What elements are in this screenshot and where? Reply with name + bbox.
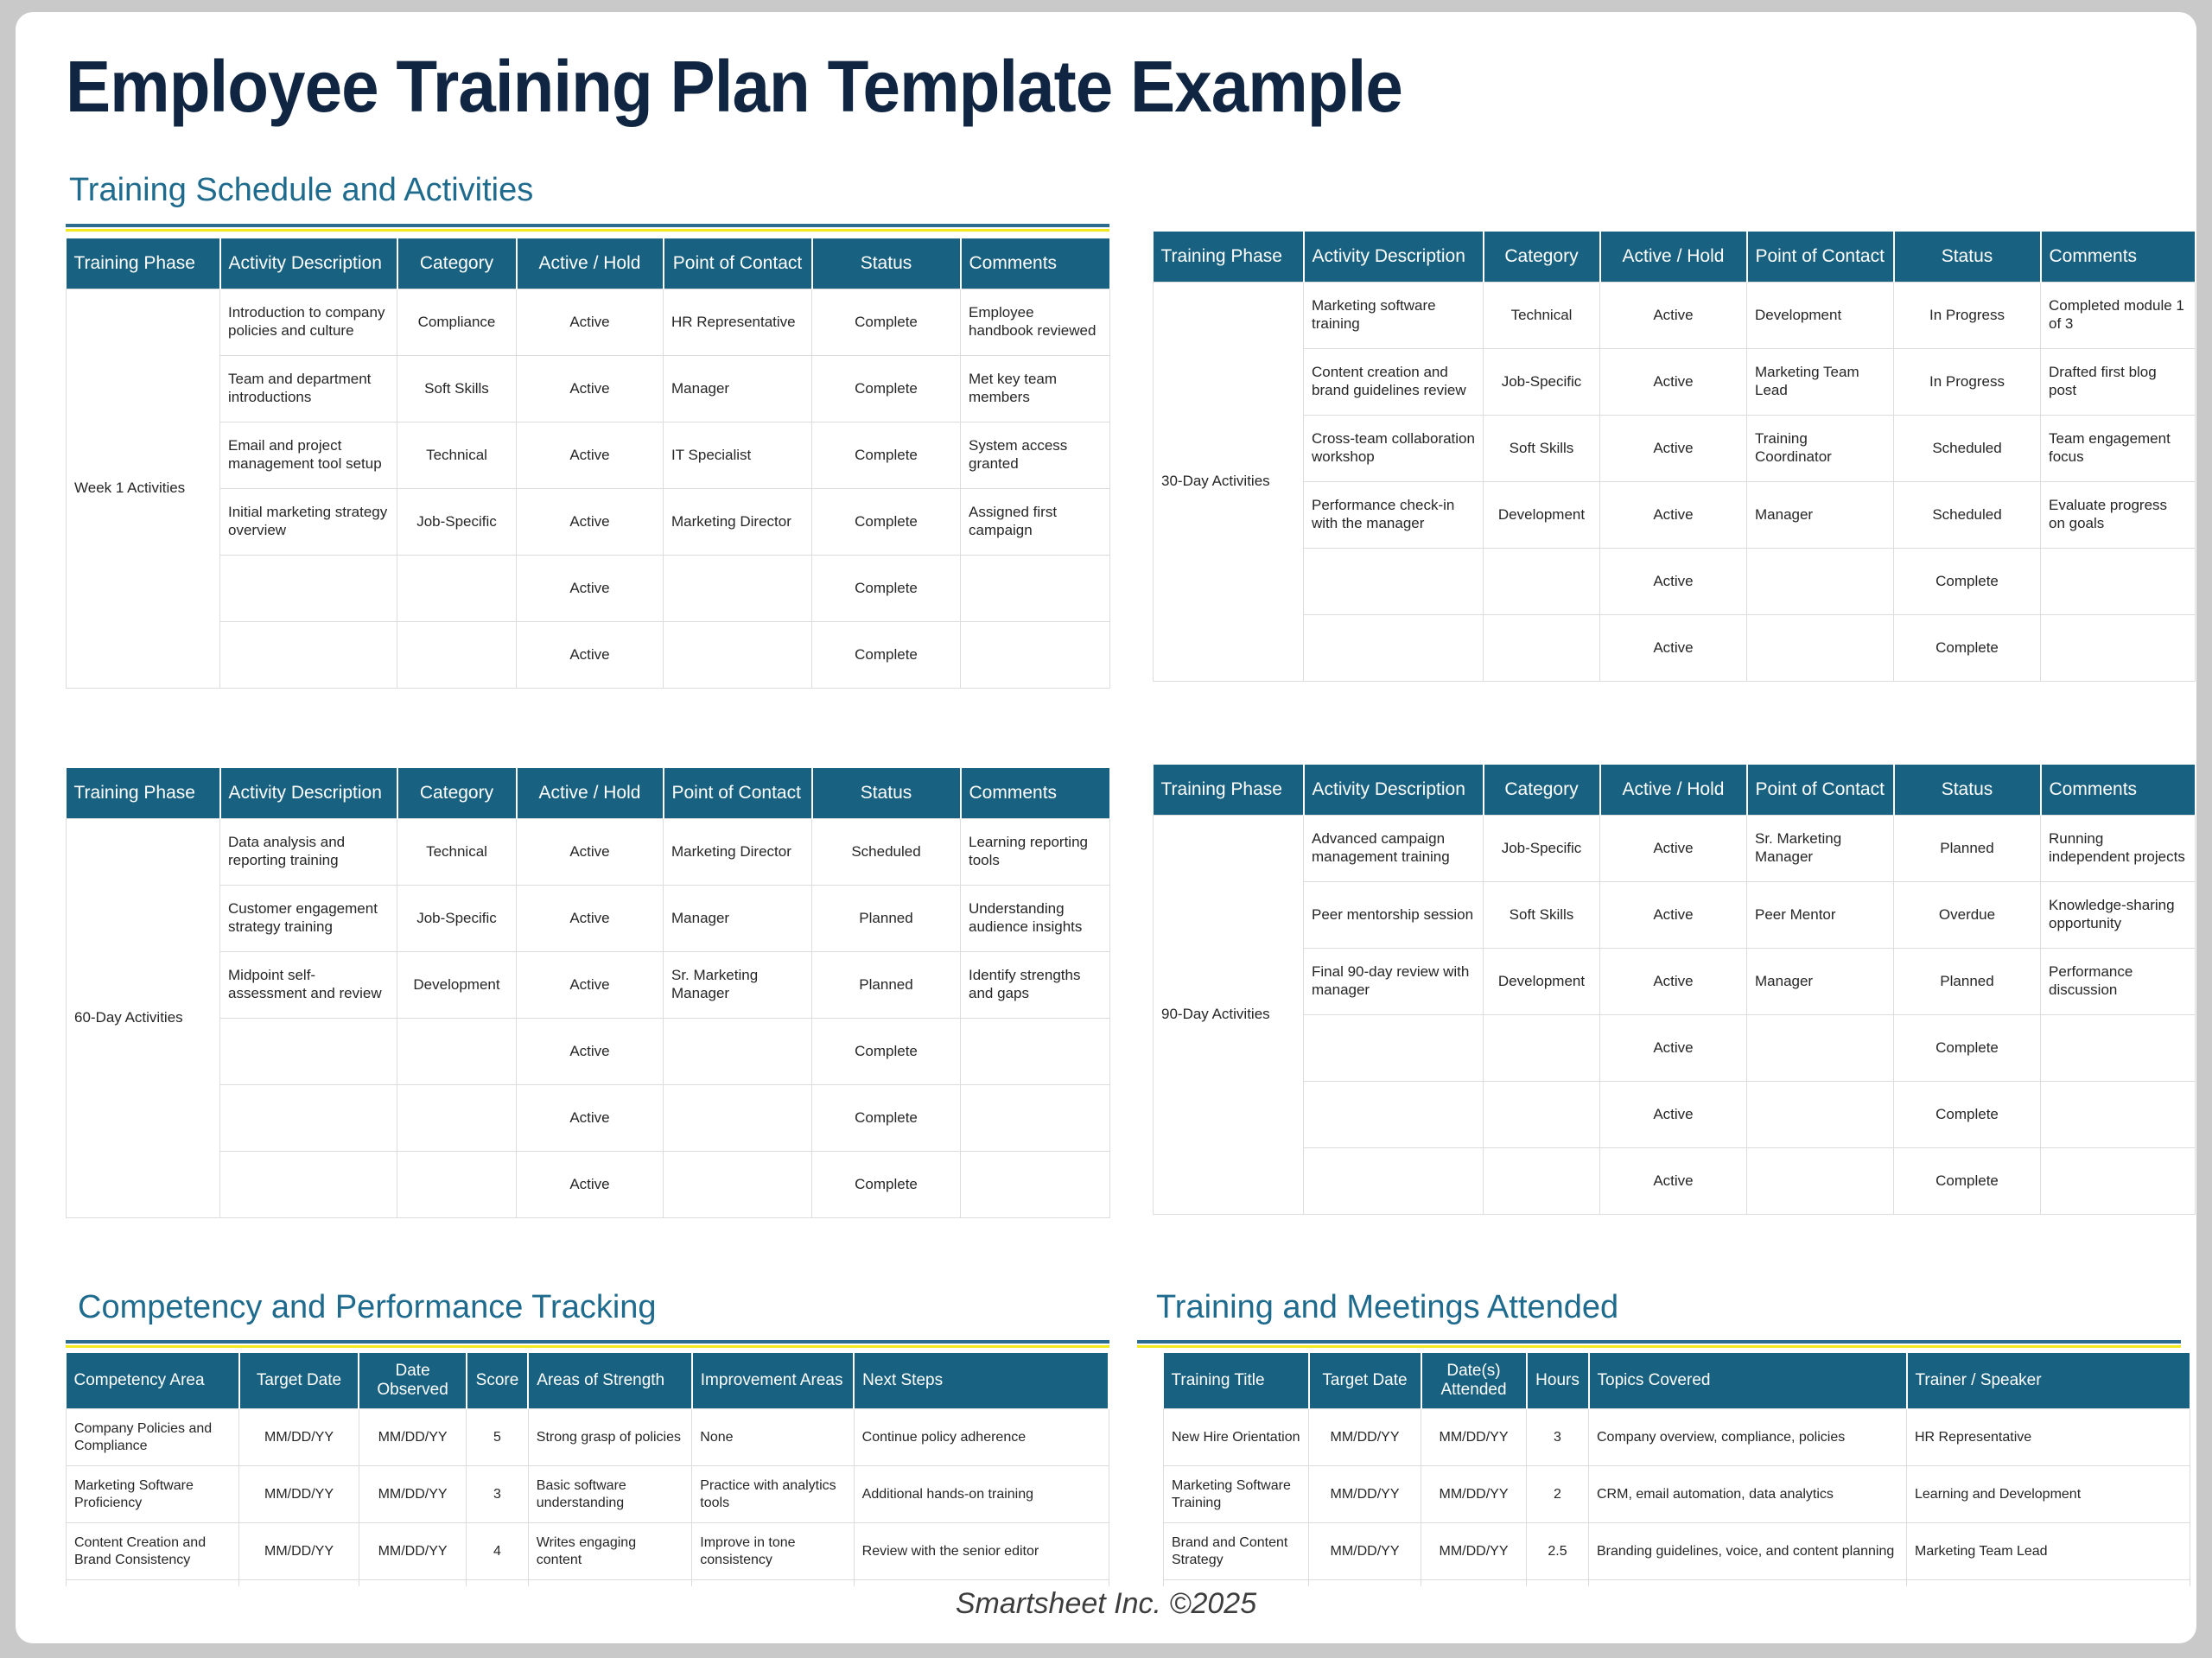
col-topics-covered: Topics Covered [1589,1353,1907,1409]
category-cell: Development [397,952,517,1019]
col-category: Category [1484,765,1600,816]
col-status: Status [1894,765,2041,816]
col-training-phase: Training Phase [67,768,220,819]
category-cell: Job-Specific [397,886,517,952]
table-row: Peer mentorship sessionSoft SkillsActive… [1154,882,2196,949]
col-training-phase: Training Phase [1154,232,1304,283]
training-title-cell: New Hire Orientation [1164,1409,1309,1466]
page-title: Employee Training Plan Template Example [66,45,1402,129]
table-row: ActiveComplete [67,1085,1110,1152]
table-row: ActiveComplete [1154,549,2196,615]
date-observed-cell: MM/DD/YY [359,1580,466,1587]
category-cell: Technical [1484,283,1600,349]
areas-of-strength-cell: Engages well in meetings [528,1580,692,1587]
point-of-contact-cell [664,622,812,689]
point-of-contact-cell [1747,1082,1894,1148]
point-of-contact-cell [664,556,812,622]
activity-description-cell [220,622,397,689]
col-training-title: Training Title [1164,1353,1309,1409]
category-cell: Soft Skills [397,356,517,422]
col-training-phase: Training Phase [1154,765,1304,816]
col-activity-description: Activity Description [220,238,397,289]
category-cell: Job-Specific [397,489,517,556]
score-cell: 3 [467,1466,529,1523]
table-row: Cross-Team Collaboration WorkshopMM/DD/Y… [1164,1580,2190,1587]
training-title-cell: Cross-Team Collaboration Workshop [1164,1580,1309,1587]
table-row: Final 90-day review with managerDevelopm… [1154,949,2196,1015]
competency-table-body: Company Policies and ComplianceMM/DD/YYM… [67,1409,1109,1587]
table-row: ActiveComplete [1154,1015,2196,1082]
col-active-hold: Active / Hold [1600,765,1747,816]
areas-of-strength-cell: Basic software understanding [528,1466,692,1523]
day60-table-wrap: Training Phase Activity Description Cate… [66,768,1111,1267]
active-hold-cell: Active [1600,549,1747,615]
comments-cell: Drafted first blog post [2041,349,2196,416]
status-cell: Planned [812,952,961,1019]
day60-table-body: 60-Day ActivitiesData analysis and repor… [67,819,1110,1218]
comments-cell: System access granted [961,422,1110,489]
status-cell: Complete [1894,1082,2041,1148]
category-cell [397,1152,517,1218]
active-hold-cell: Active [517,1085,664,1152]
comments-cell: Learning reporting tools [961,819,1110,886]
activity-description-cell [1304,1015,1484,1082]
trainer-speaker-cell: Marketing Team Lead [1907,1523,2190,1580]
active-hold-cell: Active [517,556,664,622]
table-row: ActiveComplete [67,1152,1110,1218]
hours-cell: 3 [1527,1409,1589,1466]
category-cell: Development [1484,482,1600,549]
point-of-contact-cell: Manager [1747,482,1894,549]
active-hold-cell: Active [517,622,664,689]
comments-cell [2041,549,2196,615]
meetings-table-wrap: Training Title Target Date Date(s) Atten… [1163,1353,2191,1586]
areas-of-strength-cell: Writes engaging content [528,1523,692,1580]
next-steps-cell: Set reminders for follow-ups [854,1580,1109,1587]
table-header-row: Competency Area Target Date Date Observe… [67,1353,1109,1409]
activity-description-cell: Customer engagement strategy training [220,886,397,952]
competency-tracking-table: Competency Area Target Date Date Observe… [66,1353,1109,1586]
status-cell: Complete [1894,615,2041,682]
point-of-contact-cell [1747,1148,1894,1215]
category-cell [1484,549,1600,615]
table-row: ActiveComplete [1154,615,2196,682]
status-cell: Complete [812,289,961,356]
comments-cell [2041,1148,2196,1215]
hours-cell: 2.5 [1527,1523,1589,1580]
category-cell: Soft Skills [1484,416,1600,482]
status-cell: In Progress [1894,283,2041,349]
table-row: ActiveComplete [67,622,1110,689]
week1-table-wrap: Training Phase Activity Description Cate… [66,238,1111,745]
active-hold-cell: Active [1600,615,1747,682]
table-row: ActiveComplete [67,1019,1110,1085]
active-hold-cell: Active [1600,283,1747,349]
comments-cell: Identify strengths and gaps [961,952,1110,1019]
activity-description-cell [220,556,397,622]
activity-description-cell: Initial marketing strategy overview [220,489,397,556]
col-active-hold: Active / Hold [1600,232,1747,283]
category-cell: Technical [397,422,517,489]
next-steps-cell: Review with the senior editor [854,1523,1109,1580]
table-row: 90-Day ActivitiesAdvanced campaign manag… [1154,816,2196,882]
col-point-of-contact: Point of Contact [1747,232,1894,283]
col-date-observed: Date Observed [359,1353,466,1409]
week1-activities-table: Training Phase Activity Description Cate… [66,238,1111,689]
category-cell: Job-Specific [1484,816,1600,882]
table-row: Marketing Software ProficiencyMM/DD/YYMM… [67,1466,1109,1523]
table-row: Marketing Software TrainingMM/DD/YYMM/DD… [1164,1466,2190,1523]
comments-cell [961,1019,1110,1085]
status-cell: Scheduled [1894,482,2041,549]
training-title-cell: Brand and Content Strategy [1164,1523,1309,1580]
comments-cell: Running independent projects [2041,816,2196,882]
status-cell: Complete [812,622,961,689]
table-row: Brand and Content StrategyMM/DD/YYMM/DD/… [1164,1523,2190,1580]
point-of-contact-cell [1747,549,1894,615]
activity-description-cell: Marketing software training [1304,283,1484,349]
section-heading-competency: Competency and Performance Tracking [78,1289,657,1326]
dates-attended-cell: MM/DD/YY [1421,1580,1527,1587]
activity-description-cell: Peer mentorship session [1304,882,1484,949]
category-cell: Compliance [397,289,517,356]
topics-covered-cell: Team synergy, role alignment [1589,1580,1907,1587]
table-row: Content creation and brand guidelines re… [1154,349,2196,416]
category-cell [397,556,517,622]
section-rule-meetings [1137,1340,2181,1348]
improvement-areas-cell: Practice with analytics tools [692,1466,854,1523]
status-cell: Complete [1894,1148,2041,1215]
activity-description-cell [220,1152,397,1218]
status-cell: Overdue [1894,882,2041,949]
target-date-cell: MM/DD/YY [1309,1409,1421,1466]
comments-cell: Knowledge-sharing opportunity [2041,882,2196,949]
col-category: Category [397,768,517,819]
category-cell [1484,1082,1600,1148]
active-hold-cell: Active [1600,482,1747,549]
col-areas-of-strength: Areas of Strength [528,1353,692,1409]
point-of-contact-cell [664,1152,812,1218]
comments-cell [961,556,1110,622]
table-row: Company Policies and ComplianceMM/DD/YYM… [67,1409,1109,1466]
col-comments: Comments [2041,765,2196,816]
dates-attended-cell: MM/DD/YY [1421,1523,1527,1580]
activity-description-cell [220,1019,397,1085]
col-trainer-speaker: Trainer / Speaker [1907,1353,2190,1409]
col-active-hold: Active / Hold [517,238,664,289]
hours-cell: 2 [1527,1466,1589,1523]
active-hold-cell: Active [1600,816,1747,882]
active-hold-cell: Active [517,886,664,952]
col-target-date: Target Date [239,1353,359,1409]
target-date-cell: MM/DD/YY [239,1409,359,1466]
meetings-attended-table: Training Title Target Date Date(s) Atten… [1163,1353,2191,1586]
table-row: ActiveComplete [1154,1082,2196,1148]
category-cell: Technical [397,819,517,886]
target-date-cell: MM/DD/YY [1309,1466,1421,1523]
col-improvement-areas: Improvement Areas [692,1353,854,1409]
activity-description-cell [1304,615,1484,682]
competency-area-cell: Content Creation and Brand Consistency [67,1523,239,1580]
target-date-cell: MM/DD/YY [239,1580,359,1587]
improvement-areas-cell: None [692,1409,854,1466]
active-hold-cell: Active [517,1019,664,1085]
point-of-contact-cell: Manager [664,886,812,952]
status-cell: Planned [1894,816,2041,882]
category-cell [1484,1015,1600,1082]
status-cell: Scheduled [812,819,961,886]
col-active-hold: Active / Hold [517,768,664,819]
col-comments: Comments [961,238,1110,289]
document-page: Employee Training Plan Template Example … [16,12,2196,1643]
trainer-speaker-cell: HR Representative [1907,1409,2190,1466]
activity-description-cell: Midpoint self-assessment and review [220,952,397,1019]
table-header-row: Training Title Target Date Date(s) Atten… [1164,1353,2190,1409]
day90-table-wrap: Training Phase Activity Description Cate… [1153,765,2196,1224]
col-next-steps: Next Steps [854,1353,1109,1409]
col-category: Category [1484,232,1600,283]
comments-cell: Team engagement focus [2041,416,2196,482]
activity-description-cell [1304,1082,1484,1148]
date-observed-cell: MM/DD/YY [359,1523,466,1580]
point-of-contact-cell: Sr. Marketing Manager [1747,816,1894,882]
col-point-of-contact: Point of Contact [664,238,812,289]
category-cell [397,622,517,689]
status-cell: Complete [1894,549,2041,615]
target-date-cell: MM/DD/YY [1309,1580,1421,1587]
table-header-row: Training Phase Activity Description Cate… [1154,765,2196,816]
category-cell [1484,615,1600,682]
category-cell [397,1085,517,1152]
table-row: ActiveComplete [1154,1148,2196,1215]
col-competency-area: Competency Area [67,1353,239,1409]
status-cell: Complete [812,1085,961,1152]
comments-cell [961,1085,1110,1152]
active-hold-cell: Active [1600,949,1747,1015]
point-of-contact-cell: Training Coordinator [1747,416,1894,482]
competency-table-wrap: Competency Area Target Date Date Observe… [66,1353,1111,1586]
comments-cell: Performance discussion [2041,949,2196,1015]
training-phase-cell: 60-Day Activities [67,819,220,1218]
col-point-of-contact: Point of Contact [664,768,812,819]
section-heading-meetings: Training and Meetings Attended [1156,1289,1618,1326]
col-category: Category [397,238,517,289]
improvement-areas-cell: Improve in tone consistency [692,1523,854,1580]
col-activity-description: Activity Description [1304,765,1484,816]
topics-covered-cell: Company overview, compliance, policies [1589,1409,1907,1466]
table-row: Customer engagement strategy trainingJob… [67,886,1110,952]
comments-cell: Assigned first campaign [961,489,1110,556]
table-row: 60-Day ActivitiesData analysis and repor… [67,819,1110,886]
status-cell: Complete [812,556,961,622]
table-row: Email and project management tool setupT… [67,422,1110,489]
activity-description-cell: Advanced campaign management training [1304,816,1484,882]
comments-cell: Understanding audience insights [961,886,1110,952]
table-row: Content Creation and Brand ConsistencyMM… [67,1523,1109,1580]
point-of-contact-cell [664,1085,812,1152]
day30-table-body: 30-Day ActivitiesMarketing software trai… [1154,283,2196,682]
comments-cell [961,1152,1110,1218]
training-title-cell: Marketing Software Training [1164,1466,1309,1523]
day60-activities-table: Training Phase Activity Description Cate… [66,768,1111,1218]
trainer-speaker-cell: Learning and Development [1907,1466,2190,1523]
status-cell: Planned [1894,949,2041,1015]
status-cell: Planned [812,886,961,952]
date-observed-cell: MM/DD/YY [359,1409,466,1466]
col-hours: Hours [1527,1353,1589,1409]
active-hold-cell: Active [517,952,664,1019]
week1-table-body: Week 1 ActivitiesIntroduction to company… [67,289,1110,689]
table-row: Week 1 ActivitiesIntroduction to company… [67,289,1110,356]
section-rule-competency [66,1340,1109,1348]
comments-cell: Completed module 1 of 3 [2041,283,2196,349]
active-hold-cell: Active [1600,1082,1747,1148]
status-cell: In Progress [1894,349,2041,416]
improvement-areas-cell: Improve response times [692,1580,854,1587]
comments-cell [2041,1082,2196,1148]
day30-table-wrap: Training Phase Activity Description Cate… [1153,232,2196,694]
point-of-contact-cell [1747,1015,1894,1082]
point-of-contact-cell [1747,615,1894,682]
category-cell [1484,1148,1600,1215]
activity-description-cell [1304,1148,1484,1215]
comments-cell [2041,1015,2196,1082]
score-cell: 5 [467,1409,529,1466]
active-hold-cell: Active [517,819,664,886]
point-of-contact-cell: Manager [1747,949,1894,1015]
active-hold-cell: Active [517,356,664,422]
active-hold-cell: Active [1600,349,1747,416]
table-row: Midpoint self-assessment and reviewDevel… [67,952,1110,1019]
meetings-table-body: New Hire OrientationMM/DD/YYMM/DD/YY3Com… [1164,1409,2190,1587]
hours-cell: 2 [1527,1580,1589,1587]
next-steps-cell: Continue policy adherence [854,1409,1109,1466]
point-of-contact-cell: Marketing Team Lead [1747,349,1894,416]
activity-description-cell: Cross-team collaboration workshop [1304,416,1484,482]
activity-description-cell: Content creation and brand guidelines re… [1304,349,1484,416]
status-cell: Complete [812,489,961,556]
day30-activities-table: Training Phase Activity Description Cate… [1153,232,2196,682]
category-cell [397,1019,517,1085]
target-date-cell: MM/DD/YY [239,1523,359,1580]
competency-area-cell: Company Policies and Compliance [67,1409,239,1466]
active-hold-cell: Active [1600,1015,1747,1082]
col-status: Status [812,768,961,819]
activity-description-cell [220,1085,397,1152]
section-rule-schedule [66,224,1109,232]
active-hold-cell: Active [1600,1148,1747,1215]
comments-cell [2041,615,2196,682]
status-cell: Complete [812,356,961,422]
activity-description-cell: Introduction to company policies and cul… [220,289,397,356]
table-row: Initial marketing strategy overviewJob-S… [67,489,1110,556]
table-header-row: Training Phase Activity Description Cate… [1154,232,2196,283]
status-cell: Complete [1894,1015,2041,1082]
active-hold-cell: Active [1600,882,1747,949]
active-hold-cell: Active [517,422,664,489]
status-cell: Complete [812,1152,961,1218]
col-training-phase: Training Phase [67,238,220,289]
table-header-row: Training Phase Activity Description Cate… [67,768,1110,819]
activity-description-cell: Team and department introductions [220,356,397,422]
col-comments: Comments [961,768,1110,819]
comments-cell: Met key team members [961,356,1110,422]
point-of-contact-cell: Sr. Marketing Manager [664,952,812,1019]
active-hold-cell: Active [517,489,664,556]
date-observed-cell: MM/DD/YY [359,1466,466,1523]
point-of-contact-cell: Marketing Director [664,819,812,886]
col-point-of-contact: Point of Contact [1747,765,1894,816]
activity-description-cell: Email and project management tool setup [220,422,397,489]
point-of-contact-cell: Manager [664,356,812,422]
active-hold-cell: Active [517,289,664,356]
table-header-row: Training Phase Activity Description Cate… [67,238,1110,289]
competency-area-cell: Cross-Team Communication [67,1580,239,1587]
comments-cell: Evaluate progress on goals [2041,482,2196,549]
copyright-footer: Smartsheet Inc. ©2025 [16,1587,2196,1621]
point-of-contact-cell: HR Representative [664,289,812,356]
col-score: Score [467,1353,529,1409]
dates-attended-cell: MM/DD/YY [1421,1466,1527,1523]
status-cell: Complete [812,1019,961,1085]
table-row: 30-Day ActivitiesMarketing software trai… [1154,283,2196,349]
day90-activities-table: Training Phase Activity Description Cate… [1153,765,2196,1215]
areas-of-strength-cell: Strong grasp of policies [528,1409,692,1466]
activity-description-cell: Data analysis and reporting training [220,819,397,886]
point-of-contact-cell: Marketing Director [664,489,812,556]
trainer-speaker-cell: Training Coordinator [1907,1580,2190,1587]
activity-description-cell [1304,549,1484,615]
point-of-contact-cell: Peer Mentor [1747,882,1894,949]
category-cell: Job-Specific [1484,349,1600,416]
point-of-contact-cell: Development [1747,283,1894,349]
training-phase-cell: Week 1 Activities [67,289,220,689]
target-date-cell: MM/DD/YY [1309,1523,1421,1580]
table-row: Cross-team collaboration workshopSoft Sk… [1154,416,2196,482]
col-dates-attended: Date(s) Attended [1421,1353,1527,1409]
topics-covered-cell: Branding guidelines, voice, and content … [1589,1523,1907,1580]
active-hold-cell: Active [517,1152,664,1218]
table-row: Team and department introductionsSoft Sk… [67,356,1110,422]
section-heading-schedule: Training Schedule and Activities [69,172,533,209]
training-phase-cell: 30-Day Activities [1154,283,1304,682]
table-row: ActiveComplete [67,556,1110,622]
category-cell: Soft Skills [1484,882,1600,949]
table-row: New Hire OrientationMM/DD/YYMM/DD/YY3Com… [1164,1409,2190,1466]
next-steps-cell: Additional hands-on training [854,1466,1109,1523]
competency-area-cell: Marketing Software Proficiency [67,1466,239,1523]
status-cell: Complete [812,422,961,489]
activity-description-cell: Performance check-in with the manager [1304,482,1484,549]
col-status: Status [1894,232,2041,283]
training-phase-cell: 90-Day Activities [1154,816,1304,1215]
col-status: Status [812,238,961,289]
col-activity-description: Activity Description [220,768,397,819]
comments-cell: Employee handbook reviewed [961,289,1110,356]
table-row: Performance check-in with the managerDev… [1154,482,2196,549]
day90-table-body: 90-Day ActivitiesAdvanced campaign manag… [1154,816,2196,1215]
col-activity-description: Activity Description [1304,232,1484,283]
point-of-contact-cell: IT Specialist [664,422,812,489]
activity-description-cell: Final 90-day review with manager [1304,949,1484,1015]
col-comments: Comments [2041,232,2196,283]
table-row: Cross-Team CommunicationMM/DD/YYMM/DD/YY… [67,1580,1109,1587]
col-target-date: Target Date [1309,1353,1421,1409]
point-of-contact-cell [664,1019,812,1085]
category-cell: Development [1484,949,1600,1015]
topics-covered-cell: CRM, email automation, data analytics [1589,1466,1907,1523]
dates-attended-cell: MM/DD/YY [1421,1409,1527,1466]
